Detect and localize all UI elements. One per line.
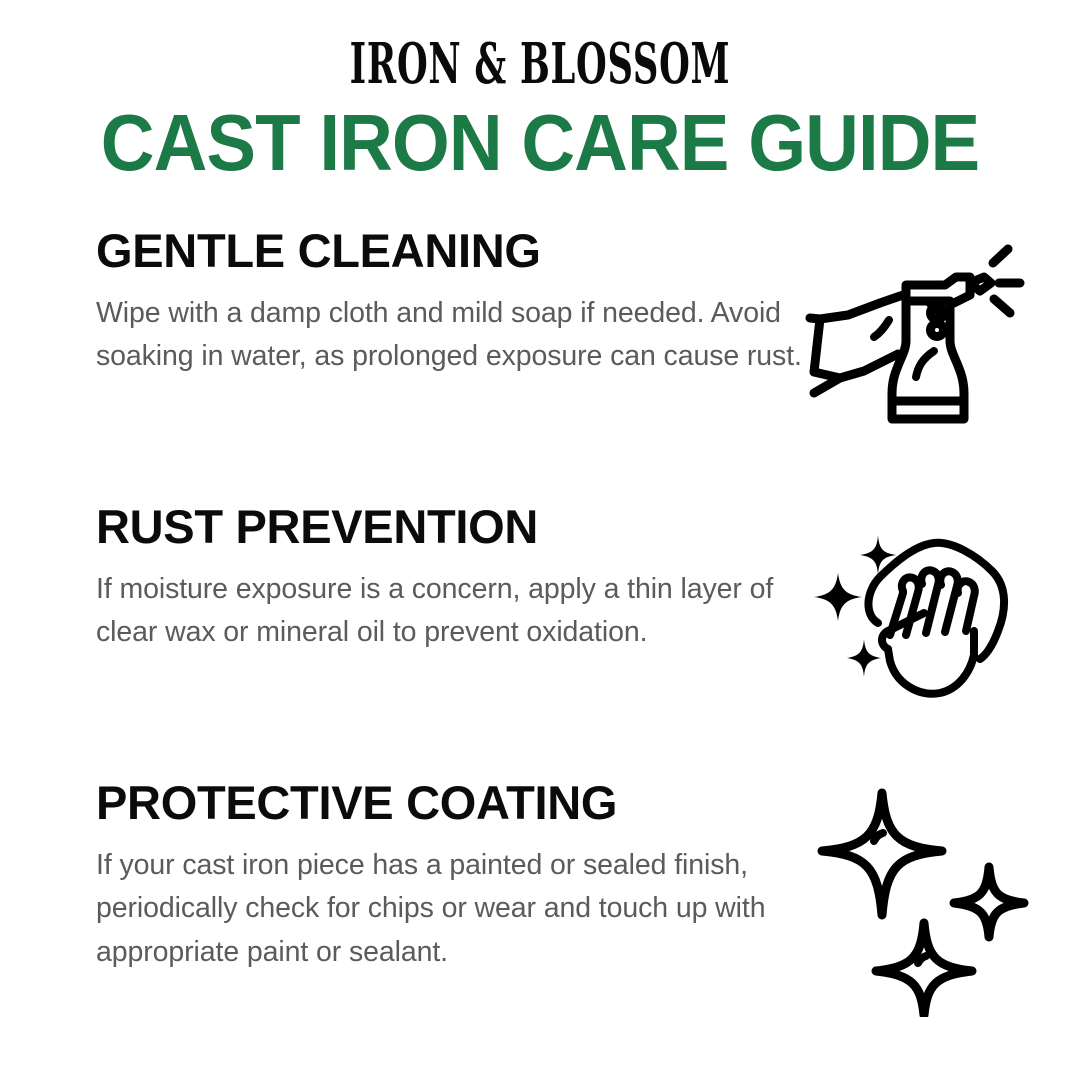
section-heading: GENTLE CLEANING	[96, 227, 808, 276]
section-protective-coating: PROTECTIVE COATING If your cast iron pie…	[96, 779, 1060, 975]
section-rust-prevention: RUST PREVENTION If moisture exposure is …	[96, 503, 1060, 699]
section-body: Wipe with a damp cloth and mild soap if …	[96, 292, 808, 379]
sparkles-icon	[802, 787, 1042, 1017]
section-gentle-cleaning: GENTLE CLEANING Wipe with a damp cloth a…	[96, 227, 1060, 423]
section-heading: PROTECTIVE COATING	[96, 779, 808, 828]
sections-list: GENTLE CLEANING Wipe with a damp cloth a…	[0, 227, 1080, 975]
section-text-block: PROTECTIVE COATING If your cast iron pie…	[96, 779, 808, 975]
brand-logo: IRON & BLOSSOM	[151, 0, 929, 92]
spray-bottle-icon	[794, 233, 1044, 438]
section-body: If your cast iron piece has a painted or…	[96, 844, 808, 975]
section-text-block: RUST PREVENTION If moisture exposure is …	[96, 503, 808, 655]
section-heading: RUST PREVENTION	[96, 503, 808, 552]
section-text-block: GENTLE CLEANING Wipe with a damp cloth a…	[96, 227, 808, 379]
section-body: If moisture exposure is a concern, apply…	[96, 568, 808, 655]
care-guide-page: IRON & BLOSSOM CAST IRON CARE GUIDE GENT…	[0, 0, 1080, 1080]
hand-wipe-sparkle-icon	[800, 527, 1030, 707]
page-title: CAST IRON CARE GUIDE	[38, 103, 1042, 183]
